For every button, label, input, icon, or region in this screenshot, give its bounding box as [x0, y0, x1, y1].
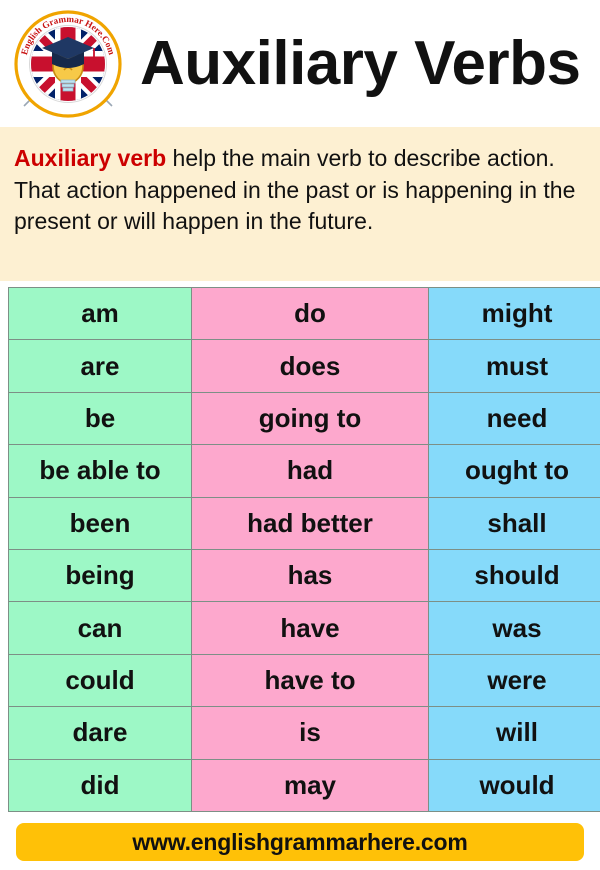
verb-cell-green: did: [9, 759, 192, 811]
verb-cell-green: be able to: [9, 445, 192, 497]
table-row: be going to need: [9, 392, 600, 444]
table-row: be able to had ought to: [9, 445, 600, 497]
verb-cell-blue: might: [429, 288, 600, 340]
footer-url-bar[interactable]: www.englishgrammarhere.com: [16, 823, 584, 861]
table-row: are does must: [9, 340, 600, 392]
verb-cell-blue: should: [429, 549, 600, 601]
verb-table-container: am do might are does must be going to ne…: [0, 281, 600, 812]
description-panel: Auxiliary verb help the main verb to des…: [0, 127, 600, 281]
table-row: can have was: [9, 602, 600, 654]
verb-cell-pink: have to: [192, 654, 429, 706]
verb-cell-green: can: [9, 602, 192, 654]
verb-cell-pink: going to: [192, 392, 429, 444]
verb-cell-pink: do: [192, 288, 429, 340]
table-row: dare is will: [9, 707, 600, 759]
table-row: did may would: [9, 759, 600, 811]
verb-cell-green: be: [9, 392, 192, 444]
verb-cell-pink: is: [192, 707, 429, 759]
verb-cell-blue: shall: [429, 497, 600, 549]
verb-cell-pink: may: [192, 759, 429, 811]
verb-cell-pink: had: [192, 445, 429, 497]
verb-cell-blue: need: [429, 392, 600, 444]
verb-cell-blue: ought to: [429, 445, 600, 497]
table-row: could have to were: [9, 654, 600, 706]
verb-cell-pink: have: [192, 602, 429, 654]
description-highlight: Auxiliary verb: [14, 145, 166, 171]
page-header: English Grammar Here.Com Auxiliary Verbs: [0, 0, 600, 127]
english-grammar-here-badge-icon[interactable]: English Grammar Here.Com: [8, 4, 128, 124]
auxiliary-verbs-table: am do might are does must be going to ne…: [8, 287, 600, 812]
table-row: am do might: [9, 288, 600, 340]
table-row: being has should: [9, 549, 600, 601]
verb-cell-blue: would: [429, 759, 600, 811]
verb-cell-blue: was: [429, 602, 600, 654]
verb-cell-pink: has: [192, 549, 429, 601]
verb-cell-pink: does: [192, 340, 429, 392]
verb-table-body: am do might are does must be going to ne…: [9, 288, 600, 812]
verb-cell-blue: must: [429, 340, 600, 392]
verb-cell-blue: were: [429, 654, 600, 706]
verb-cell-green: been: [9, 497, 192, 549]
verb-cell-green: dare: [9, 707, 192, 759]
verb-cell-blue: will: [429, 707, 600, 759]
footer-url-text: www.englishgrammarhere.com: [132, 829, 467, 856]
page-title: Auxiliary Verbs: [140, 33, 581, 95]
verb-cell-green: being: [9, 549, 192, 601]
verb-cell-pink: had better: [192, 497, 429, 549]
verb-cell-green: are: [9, 340, 192, 392]
verb-cell-green: could: [9, 654, 192, 706]
verb-cell-green: am: [9, 288, 192, 340]
table-row: been had better shall: [9, 497, 600, 549]
